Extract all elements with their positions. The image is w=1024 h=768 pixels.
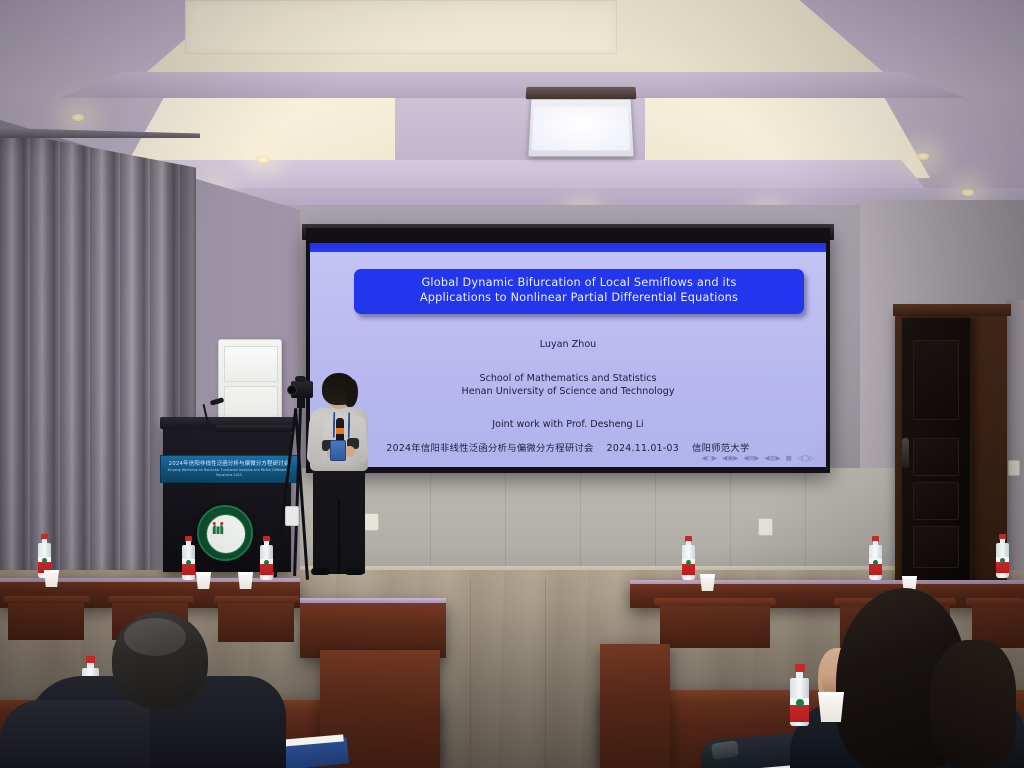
chair[interactable] xyxy=(218,598,294,642)
video-camera xyxy=(291,381,313,398)
lectern-banner: 2024年信阳非线性泛函分析与偏微分方程研讨会 Xinyang Workshop… xyxy=(160,455,298,483)
beamer-navigation-bar[interactable]: ◀◻▶ ◀▣▶ ◀▤▶ ◀▥▶ ▦ ◁◯▷ xyxy=(702,455,814,462)
forward-icon[interactable]: ◀▥▶ xyxy=(764,455,780,462)
slide-top-bar xyxy=(310,243,826,252)
speaker-name-badge xyxy=(330,440,346,461)
speaker-shoe xyxy=(311,568,330,575)
bottle-logo-icon xyxy=(264,560,269,565)
search-icon[interactable]: ◁◯▷ xyxy=(797,455,814,462)
paper-cup[interactable] xyxy=(196,572,211,589)
conference-dates: 2024.11.01-03 xyxy=(607,443,679,454)
emblem-figure-icon xyxy=(209,519,227,537)
bottle-logo-icon xyxy=(42,558,47,563)
lectern-banner-cn: 2024年信阳非线性泛函分析与偏微分方程研讨会 xyxy=(161,460,297,468)
first-slide-icon[interactable]: ◀◻▶ xyxy=(702,455,717,462)
bottle-logo-icon xyxy=(686,560,691,565)
desk-edge-highlight xyxy=(630,580,1024,584)
chair-rail xyxy=(108,596,194,603)
chair-rail xyxy=(4,596,90,603)
ceiling-projector xyxy=(528,97,633,156)
door-header-trim xyxy=(893,304,1011,316)
university-emblem-icon xyxy=(197,505,253,561)
slide-title-line1: Global Dynamic Bifurcation of Local Semi… xyxy=(364,276,794,291)
slide-title-box: Global Dynamic Bifurcation of Local Semi… xyxy=(354,269,804,314)
slide-body: Luyan Zhou School of Mathematics and Sta… xyxy=(310,339,826,454)
camera-top-handle xyxy=(295,376,306,382)
equipment-box xyxy=(285,506,299,526)
attendee-left-head xyxy=(112,612,208,708)
next-slide-icon[interactable]: ▦ xyxy=(786,455,792,462)
stage-wall-panelling xyxy=(300,468,900,578)
speaker-shoe xyxy=(345,568,364,575)
paper-cup[interactable] xyxy=(818,692,844,722)
attendee-right-ponytail xyxy=(930,640,1016,768)
room-door[interactable] xyxy=(902,318,972,590)
slide-joint-work: Joint work with Prof. Desheng Li xyxy=(310,419,826,430)
slide-title-line2: Applications to Nonlinear Partial Differ… xyxy=(364,291,794,306)
speaker-leg-split xyxy=(338,500,340,574)
chair-rail xyxy=(214,596,300,603)
lectern-rail xyxy=(216,425,294,432)
paper-cup[interactable] xyxy=(238,572,253,589)
door-panel-bottom xyxy=(913,526,959,568)
door-panel-mid1 xyxy=(913,438,959,476)
downlight-icon xyxy=(70,113,86,122)
bottle-logo-icon xyxy=(796,699,804,707)
door-panel-mid2 xyxy=(913,482,959,520)
bottle-logo-icon xyxy=(1000,558,1005,563)
wall-socket[interactable] xyxy=(1008,460,1020,476)
wall-socket[interactable] xyxy=(758,518,773,536)
projector-lens xyxy=(532,106,631,150)
downlight-icon xyxy=(255,155,271,164)
attendee-left-shoulder xyxy=(0,700,150,768)
chair[interactable] xyxy=(660,600,770,648)
ceiling-recess-panel xyxy=(185,0,617,54)
wall-socket[interactable] xyxy=(364,513,379,531)
camera-lens-icon xyxy=(287,385,297,395)
chair-rail xyxy=(654,598,776,606)
water-bottle[interactable] xyxy=(682,536,695,580)
lectern-banner-en: Xinyang Workshop on Nonlinear Functional… xyxy=(161,468,297,478)
conference-host: 信阳师范大学 xyxy=(692,443,750,454)
chair[interactable] xyxy=(8,598,84,640)
water-bottle[interactable] xyxy=(790,664,809,726)
previous-slide-icon[interactable]: ◀▣▶ xyxy=(722,455,738,462)
desk-edge-highlight xyxy=(300,598,446,603)
ac-vent xyxy=(224,346,278,382)
presentation-slide: Global Dynamic Bifurcation of Local Semi… xyxy=(310,243,826,467)
slide-conference-line: 2024年信阳非线性泛函分析与偏微分方程研讨会 2024.11.01-03 信阳… xyxy=(310,440,826,454)
conference-name-cn: 2024年信阳非线性泛函分析与偏微分方程研讨会 xyxy=(386,443,593,454)
ceiling-beam xyxy=(60,72,965,98)
back-icon[interactable]: ◀▤▶ xyxy=(743,455,759,462)
downlight-icon xyxy=(915,152,931,161)
water-bottle[interactable] xyxy=(996,534,1009,578)
paper-cup[interactable] xyxy=(700,574,715,591)
bottle-logo-icon xyxy=(873,560,878,565)
bottle-logo-icon xyxy=(186,560,191,565)
door-panel-top xyxy=(913,340,959,420)
slide-author: Luyan Zhou xyxy=(310,339,826,350)
door-handle[interactable] xyxy=(902,438,909,468)
paper-cup[interactable] xyxy=(44,570,59,587)
chair-rail xyxy=(966,598,1024,606)
slide-affiliation-line1: School of Mathematics and Statistics xyxy=(310,372,826,385)
water-bottle[interactable] xyxy=(869,536,882,580)
microphone-band xyxy=(336,428,344,434)
conference-room-photo: Global Dynamic Bifurcation of Local Semi… xyxy=(0,0,1024,768)
desk-right-end xyxy=(600,644,670,768)
slide-affiliation-line2: Henan University of Science and Technolo… xyxy=(310,385,826,398)
downlight-icon xyxy=(960,188,976,197)
water-bottle[interactable] xyxy=(260,536,273,580)
water-bottle[interactable] xyxy=(182,536,195,580)
